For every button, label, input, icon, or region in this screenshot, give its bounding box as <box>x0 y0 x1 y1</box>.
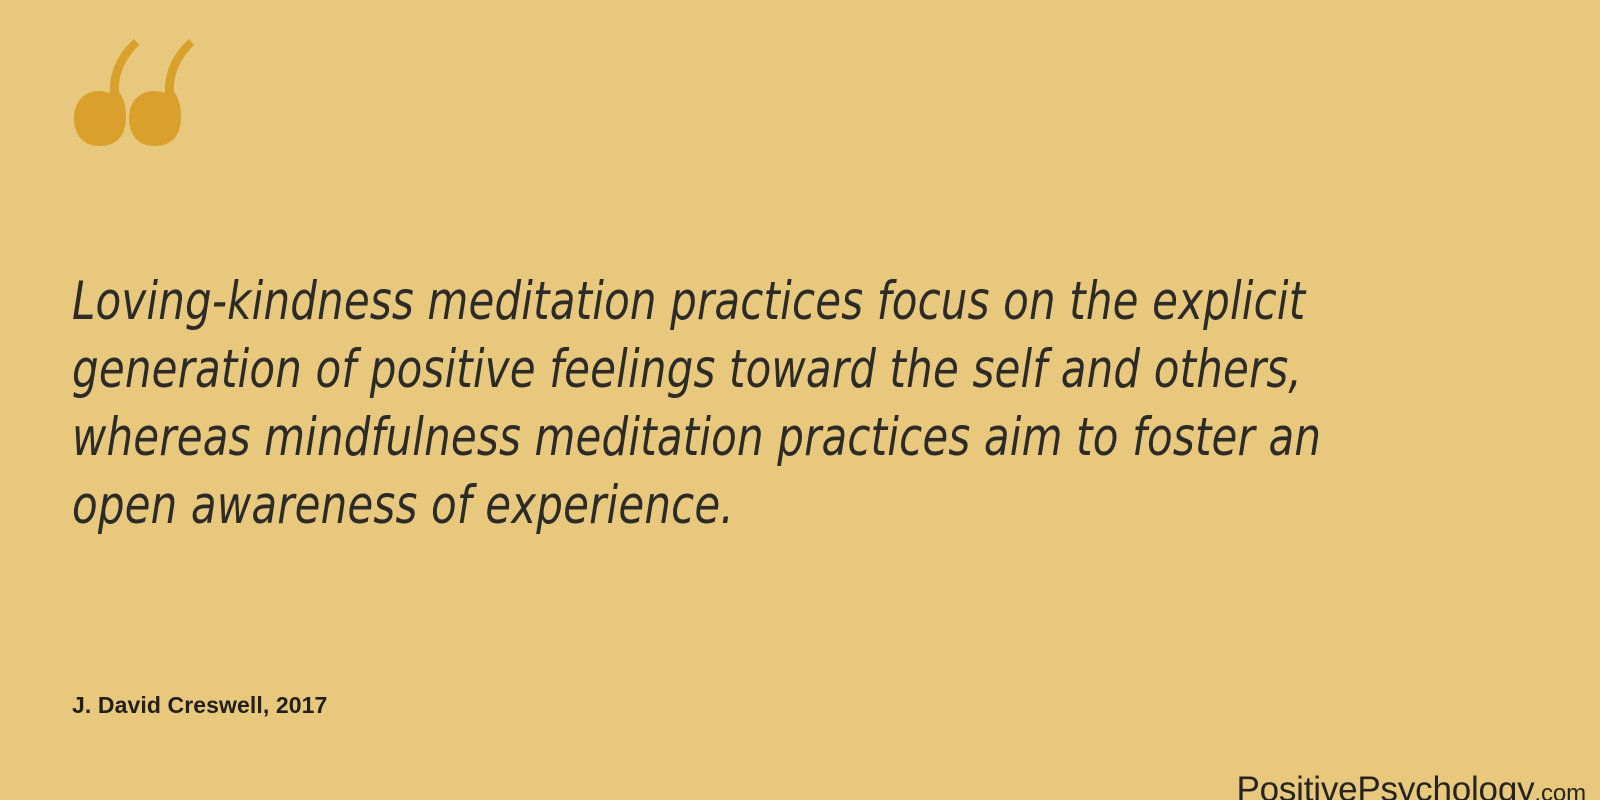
brand-logo[interactable]: PositivePsychology.com <box>1236 770 1586 800</box>
quote-attribution: J. David Creswell, 2017 <box>72 692 327 719</box>
quote-card: Loving-kindness meditation practices foc… <box>0 0 1600 800</box>
quote-text: Loving-kindness meditation practices foc… <box>72 268 1392 540</box>
quote-line: Loving-kindness meditation practices foc… <box>72 268 1234 336</box>
quote-line: open awareness of experience. <box>72 472 1234 540</box>
brand-logo-name: PositivePsychology <box>1236 770 1534 800</box>
quote-line: whereas mindfulness meditation practices… <box>72 404 1234 472</box>
quote-line: generation of positive feelings toward t… <box>72 336 1234 404</box>
opening-double-quote-icon <box>66 18 196 168</box>
brand-logo-tld: .com <box>1534 780 1586 800</box>
